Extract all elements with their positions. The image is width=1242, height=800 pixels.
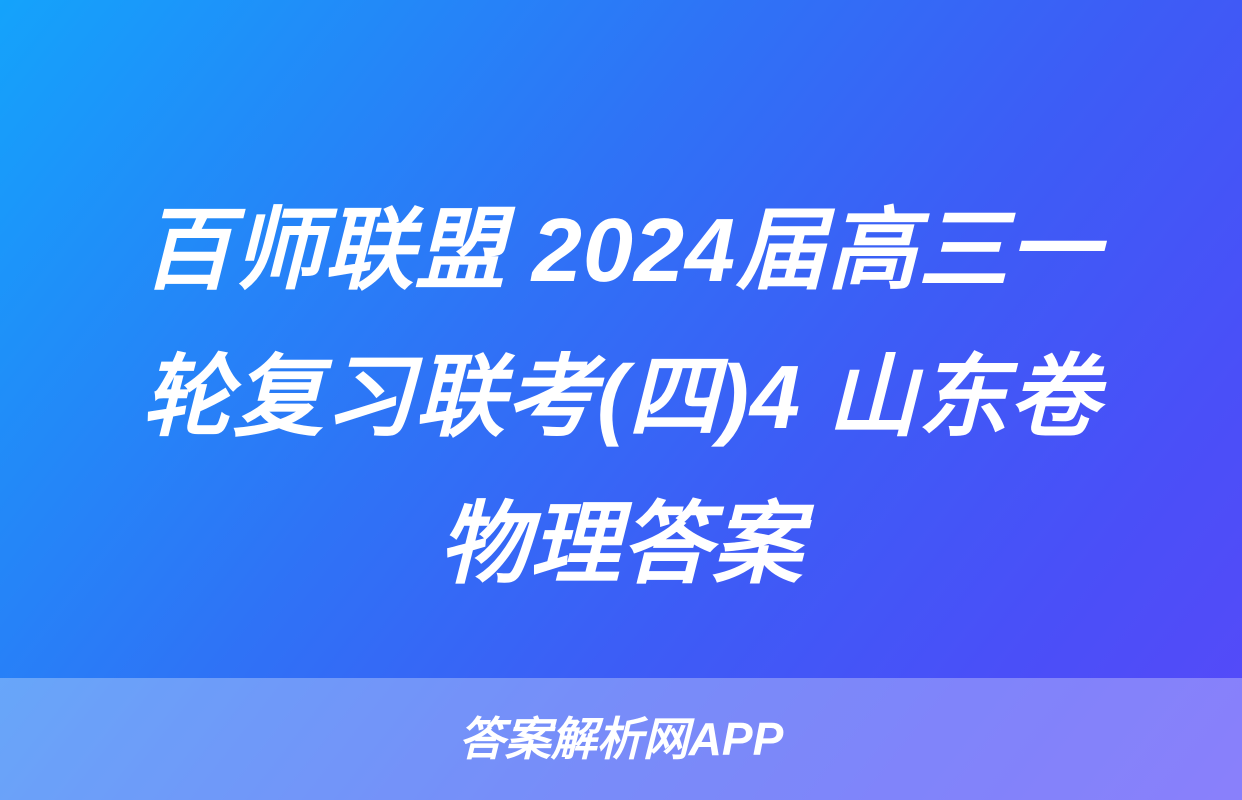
title-line-1: 百师联盟 2024届高三一: [62, 178, 1180, 325]
watermark-label: 答案解析网APP: [459, 713, 784, 765]
footer-band: 答案解析网APP: [0, 678, 1242, 800]
title-line-3: 物理答案: [62, 472, 1180, 619]
watermark: 答案解析网APP: [0, 678, 1242, 800]
page-title: 百师联盟 2024届高三一 轮复习联考(四)4 山东卷 物理答案: [0, 178, 1242, 619]
promo-banner: 百师联盟 2024届高三一 轮复习联考(四)4 山东卷 物理答案 答案解析网AP…: [0, 0, 1242, 800]
title-line-2: 轮复习联考(四)4 山东卷: [62, 325, 1180, 472]
